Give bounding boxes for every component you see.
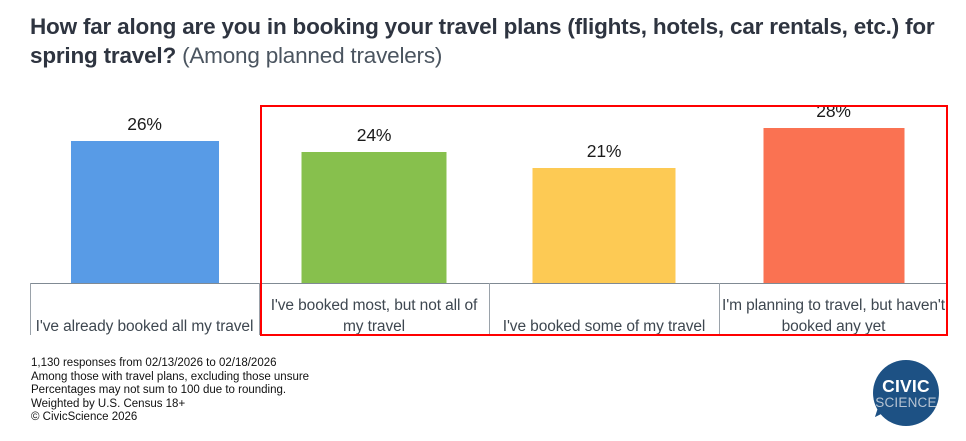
footnote-block: 1,130 responses from 02/13/2026 to 02/18… — [31, 357, 309, 425]
category-label: I've booked most, but not all of my trav… — [259, 295, 489, 337]
title-main-text: How far along are you in booking your tr… — [30, 14, 934, 68]
bar-value-label: 21% — [489, 141, 719, 162]
bar-column: 26% I've already booked all my travel — [30, 96, 259, 341]
bar-value-label: 26% — [30, 114, 259, 135]
footnote-line: © CivicScience 2026 — [31, 411, 309, 425]
logo-line-civic: CIVIC — [882, 377, 930, 395]
axis-tick-separator — [719, 283, 720, 335]
axis-tick-separator — [259, 283, 260, 335]
bar-zone: 26% — [30, 96, 259, 283]
axis-tick-separator — [30, 283, 31, 335]
bar-chart: 26% I've already booked all my travel 24… — [0, 96, 966, 341]
category-label: I've already booked all my travel — [30, 316, 259, 337]
bar-column: 24% I've booked most, but not all of my … — [259, 96, 489, 341]
bar-segment[interactable] — [71, 141, 219, 283]
category-label: I'm planning to travel, but haven't book… — [719, 295, 948, 337]
bar-zone: 28% — [719, 96, 948, 283]
bar-segment[interactable] — [763, 128, 904, 283]
axis-tick-separator — [947, 283, 948, 335]
title-subtitle-text: (Among planned travelers) — [182, 43, 442, 68]
bar-value-label: 24% — [259, 125, 489, 146]
civicscience-logo: CIVIC SCIENCE — [873, 360, 947, 434]
bar-value-label: 28% — [719, 101, 948, 122]
footnote-line: Among those with travel plans, excluding… — [31, 371, 309, 385]
logo-line-science: SCIENCE — [875, 395, 936, 410]
bar-column: 28% I'm planning to travel, but haven't … — [719, 96, 948, 341]
bar-zone: 21% — [489, 96, 719, 283]
bar-segment[interactable] — [302, 152, 447, 283]
footnote-line: Percentages may not sum to 100 due to ro… — [31, 384, 309, 398]
axis-tick-separator — [489, 283, 490, 335]
bar-zone: 24% — [259, 96, 489, 283]
footnote-line: Weighted by U.S. Census 18+ — [31, 398, 309, 412]
bar-column: 21% I've booked some of my travel — [489, 96, 719, 341]
bar-segment[interactable] — [533, 168, 676, 283]
category-label: I've booked some of my travel — [489, 316, 719, 337]
logo-wordmark: CIVIC SCIENCE — [873, 360, 939, 426]
footnote-line: 1,130 responses from 02/13/2026 to 02/18… — [31, 357, 309, 371]
page-title: How far along are you in booking your tr… — [30, 12, 940, 70]
